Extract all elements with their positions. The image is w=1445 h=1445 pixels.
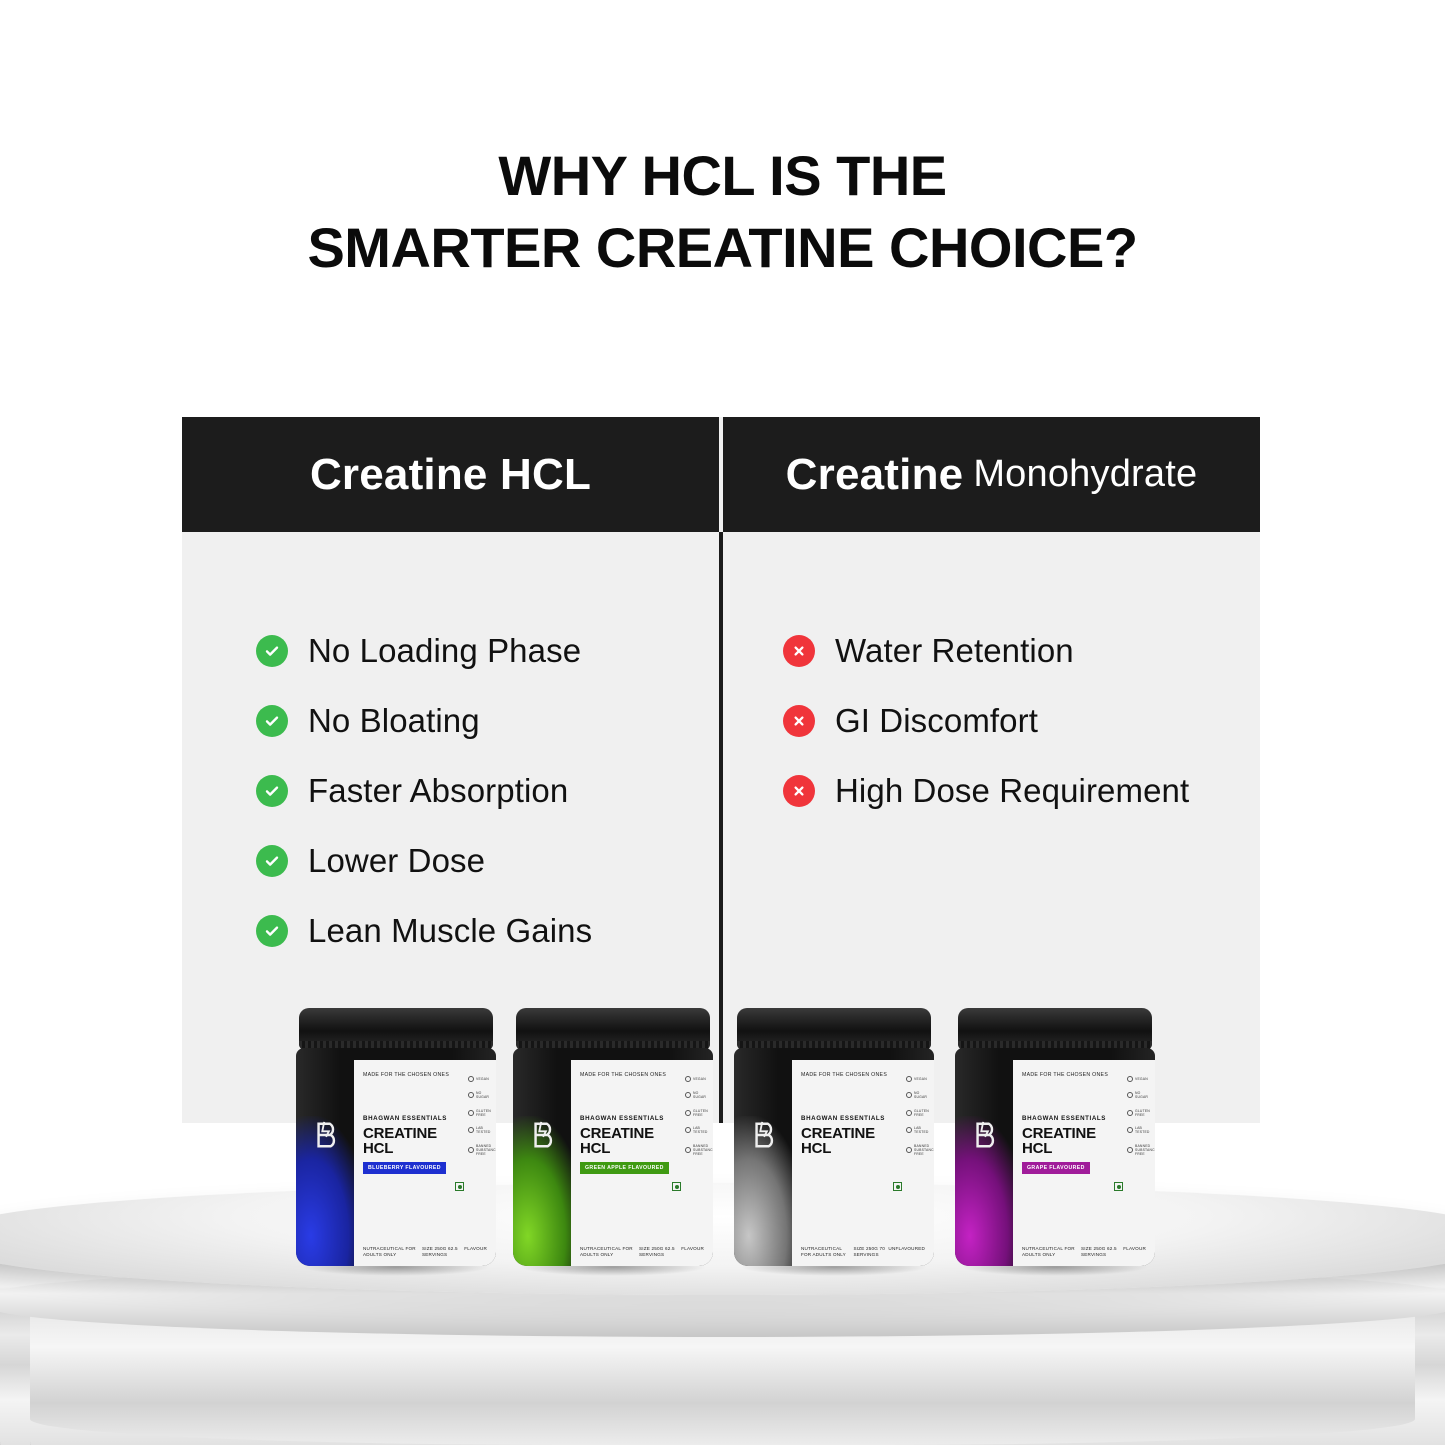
- label-footer-mid: SIZE 250G 62.5 SERVINGS: [1081, 1246, 1123, 1258]
- page-title: WHY HCL IS THE SMARTER CREATINE CHOICE?: [0, 140, 1445, 284]
- list-item-label: No Loading Phase: [308, 632, 581, 670]
- product-label: MADE FOR THE CHOSEN ONES BHAGWAN ESSENTI…: [792, 1060, 934, 1266]
- label-footer: NUTRACEUTICAL FOR ADULTS ONLY SIZE 250G …: [363, 1246, 487, 1258]
- cert-icon-banned-substance-free: BANNED SUBSTANCE FREE: [1127, 1144, 1155, 1157]
- list-item-label: Faster Absorption: [308, 772, 568, 810]
- cert-icon-vegan: VEGAN: [468, 1076, 489, 1082]
- list-item: Water Retention: [783, 628, 1260, 674]
- column-header-hcl-label: Creatine HCL: [310, 450, 591, 500]
- list-item-label: GI Discomfort: [835, 702, 1038, 740]
- page-title-line-2: SMARTER CREATINE CHOICE?: [0, 212, 1445, 284]
- jar-body: MADE FOR THE CHOSEN ONES BHAGWAN ESSENTI…: [513, 1048, 713, 1266]
- label-certification-icons: VEGAN NO SUGAR GLUTEN FREE LAB TESTED BA…: [685, 1076, 711, 1156]
- cert-icon-banned-substance-free: BANNED SUBSTANCE FREE: [468, 1144, 496, 1157]
- brand-logo-icon: [750, 1120, 780, 1150]
- cert-icon-lab-tested: LAB TESTED: [906, 1126, 932, 1135]
- check-icon: [256, 705, 288, 737]
- column-header-creatine-hcl: Creatine HCL: [182, 417, 719, 532]
- label-footer: NUTRACEUTICAL FOR ADULTS ONLY SIZE 250G …: [1022, 1246, 1146, 1258]
- list-item: Faster Absorption: [256, 768, 721, 814]
- product-jar-green-apple[interactable]: MADE FOR THE CHOSEN ONES BHAGWAN ESSENTI…: [513, 1008, 713, 1266]
- check-icon: [256, 915, 288, 947]
- brand-logo-icon: [971, 1120, 1001, 1150]
- label-certification-icons: VEGAN NO SUGAR GLUTEN FREE LAB TESTED BA…: [906, 1076, 932, 1156]
- cross-icon: [783, 775, 815, 807]
- jar-body: MADE FOR THE CHOSEN ONES BHAGWAN ESSENTI…: [734, 1048, 934, 1266]
- list-item: High Dose Requirement: [783, 768, 1260, 814]
- jar-lid: [299, 1008, 493, 1050]
- label-footer-right: FLAVOUR: [464, 1246, 487, 1258]
- label-footer: NUTRACEUTICAL FOR ADULTS ONLY SIZE 250G …: [580, 1246, 704, 1258]
- label-flavour-badge: GRAPE FLAVOURED: [1022, 1162, 1090, 1174]
- veg-mark-icon: [672, 1182, 681, 1191]
- label-certification-icons: VEGAN NO SUGAR GLUTEN FREE LAB TESTED BA…: [468, 1076, 494, 1156]
- column-header-mono-label: Creatine: [786, 450, 964, 500]
- cross-icon: [783, 705, 815, 737]
- list-item: GI Discomfort: [783, 698, 1260, 744]
- veg-mark-icon: [1114, 1182, 1123, 1191]
- label-flavour-badge: BLUEBERRY FLAVOURED: [363, 1162, 446, 1174]
- page-title-line-1: WHY HCL IS THE: [0, 140, 1445, 212]
- cert-icon-no-sugar: NO SUGAR: [1127, 1091, 1153, 1100]
- product-label: MADE FOR THE CHOSEN ONES BHAGWAN ESSENTI…: [354, 1060, 496, 1266]
- cert-icon-lab-tested: LAB TESTED: [1127, 1126, 1153, 1135]
- label-footer-left: NUTRACEUTICAL FOR ADULTS ONLY: [1022, 1246, 1081, 1258]
- product-jar-grape[interactable]: MADE FOR THE CHOSEN ONES BHAGWAN ESSENTI…: [955, 1008, 1155, 1266]
- product-label: MADE FOR THE CHOSEN ONES BHAGWAN ESSENTI…: [571, 1060, 713, 1266]
- jar-body: MADE FOR THE CHOSEN ONES BHAGWAN ESSENTI…: [296, 1048, 496, 1266]
- list-item: No Bloating: [256, 698, 721, 744]
- cert-icon-gluten-free: GLUTEN FREE: [1127, 1109, 1153, 1118]
- cert-icon-gluten-free: GLUTEN FREE: [685, 1109, 711, 1118]
- product-jar-unflavoured[interactable]: MADE FOR THE CHOSEN ONES BHAGWAN ESSENTI…: [734, 1008, 934, 1266]
- check-icon: [256, 635, 288, 667]
- cross-icon: [783, 635, 815, 667]
- label-footer-right: FLAVOUR: [681, 1246, 704, 1258]
- jar-lid: [737, 1008, 931, 1050]
- label-footer-mid: SIZE 250G 62.5 SERVINGS: [639, 1246, 681, 1258]
- brand-logo-icon: [312, 1120, 342, 1150]
- check-icon: [256, 775, 288, 807]
- label-footer: NUTRACEUTICAL FOR ADULTS ONLY SIZE 250G …: [801, 1246, 925, 1258]
- list-item: Lean Muscle Gains: [256, 908, 721, 954]
- cert-icon-gluten-free: GLUTEN FREE: [468, 1109, 494, 1118]
- jar-body: MADE FOR THE CHOSEN ONES BHAGWAN ESSENTI…: [955, 1048, 1155, 1266]
- label-footer-mid: SIZE 250G 70 SERVINGS: [853, 1246, 888, 1258]
- cert-icon-vegan: VEGAN: [685, 1076, 706, 1082]
- cert-icon-vegan: VEGAN: [906, 1076, 927, 1082]
- cert-icon-gluten-free: GLUTEN FREE: [906, 1109, 932, 1118]
- label-certification-icons: VEGAN NO SUGAR GLUTEN FREE LAB TESTED BA…: [1127, 1076, 1153, 1156]
- list-item-label: No Bloating: [308, 702, 480, 740]
- cert-icon-lab-tested: LAB TESTED: [468, 1126, 494, 1135]
- cert-icon-vegan: VEGAN: [1127, 1076, 1148, 1082]
- product-lineup: MADE FOR THE CHOSEN ONES BHAGWAN ESSENTI…: [0, 1000, 1445, 1270]
- label-footer-left: NUTRACEUTICAL FOR ADULTS ONLY: [363, 1246, 422, 1258]
- label-footer-right: FLAVOUR: [1123, 1246, 1146, 1258]
- jar-lid: [516, 1008, 710, 1050]
- label-footer-left: NUTRACEUTICAL FOR ADULTS ONLY: [801, 1246, 853, 1258]
- jar-lid: [958, 1008, 1152, 1050]
- cert-icon-banned-substance-free: BANNED SUBSTANCE FREE: [906, 1144, 934, 1157]
- column-header-mono-sublabel: Monohydrate: [973, 453, 1197, 496]
- list-item-label: Water Retention: [835, 632, 1074, 670]
- column-header-creatine-monohydrate: Creatine Monohydrate: [723, 417, 1260, 532]
- label-flavour-badge: GREEN APPLE FLAVOURED: [580, 1162, 669, 1174]
- label-footer-left: NUTRACEUTICAL FOR ADULTS ONLY: [580, 1246, 639, 1258]
- comparison-header-row: Creatine HCL Creatine Monohydrate: [182, 417, 1260, 532]
- list-item: No Loading Phase: [256, 628, 721, 674]
- promo-banner: WHY HCL IS THE SMARTER CREATINE CHOICE? …: [0, 0, 1445, 1445]
- list-item-label: High Dose Requirement: [835, 772, 1189, 810]
- list-item: Lower Dose: [256, 838, 721, 884]
- cert-icon-no-sugar: NO SUGAR: [468, 1091, 494, 1100]
- cert-icon-no-sugar: NO SUGAR: [685, 1091, 711, 1100]
- product-jar-blueberry[interactable]: MADE FOR THE CHOSEN ONES BHAGWAN ESSENTI…: [296, 1008, 496, 1266]
- product-label: MADE FOR THE CHOSEN ONES BHAGWAN ESSENTI…: [1013, 1060, 1155, 1266]
- cert-icon-no-sugar: NO SUGAR: [906, 1091, 932, 1100]
- list-item-label: Lean Muscle Gains: [308, 912, 592, 950]
- check-icon: [256, 845, 288, 877]
- label-footer-right: UNFLAVOURED: [888, 1246, 925, 1258]
- cert-icon-banned-substance-free: BANNED SUBSTANCE FREE: [685, 1144, 713, 1157]
- brand-logo-icon: [529, 1120, 559, 1150]
- veg-mark-icon: [455, 1182, 464, 1191]
- label-footer-mid: SIZE 250G 62.5 SERVINGS: [422, 1246, 464, 1258]
- cert-icon-lab-tested: LAB TESTED: [685, 1126, 711, 1135]
- list-item-label: Lower Dose: [308, 842, 485, 880]
- veg-mark-icon: [893, 1182, 902, 1191]
